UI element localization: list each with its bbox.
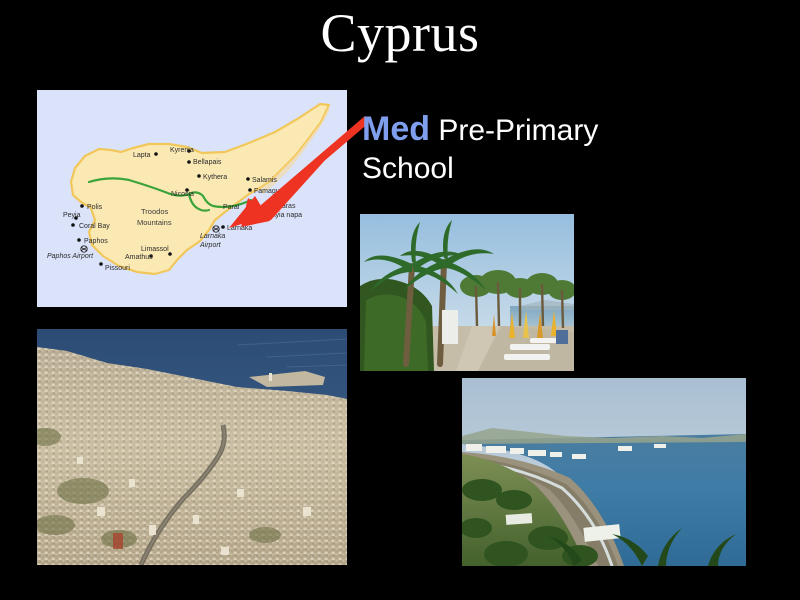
subtitle-heading: Med Pre-Primary School — [362, 110, 692, 188]
map-label-larnaka: Larnaka — [227, 225, 252, 232]
brand-name: Med — [362, 110, 430, 148]
map-label-larnaka-airport: Larnaka — [200, 233, 225, 240]
map-label-troodos: Troodos — [141, 207, 168, 216]
photo-promenade — [360, 214, 574, 371]
map-label-kyrenia: Kyrenia — [170, 147, 194, 154]
photo-city — [37, 329, 347, 565]
map-label-limassol: Limassol — [141, 246, 169, 253]
map-label-lapta: Lapta — [133, 152, 151, 159]
map-label-amathus: Amathus — [125, 254, 153, 261]
map-label-famagusta: Famagusta — [254, 188, 289, 195]
map-label-salamis: Salamis — [252, 177, 277, 184]
map-label-kythera: Kythera — [203, 174, 227, 181]
map-label-paral: Paral — [223, 204, 240, 211]
map-label-polis: Polis — [87, 204, 103, 211]
map-of-cyprus: Lapta Kyrenia Bellapais Kythera Nicosia … — [37, 90, 347, 307]
map-label-pissouri: Pissouri — [105, 265, 130, 272]
map-label-paphos: Paphos — [84, 238, 108, 245]
map-label-protaras: Protaras — [269, 203, 296, 210]
map-label-coral-bay: Coral Bay — [79, 223, 110, 230]
map-label-peyia: Peyia — [63, 212, 81, 219]
map-label-mountains: Mountains — [137, 218, 172, 227]
map-label-bellapais: Bellapais — [193, 159, 222, 166]
map-label-paphos-airport: Paphos Airport — [47, 253, 94, 260]
slide-canvas: Cyprus — [0, 0, 800, 600]
map-label-nicosia: Nicosia — [171, 191, 194, 198]
map-label-ayia-napa: Ayia napa — [271, 212, 302, 219]
photo-beach — [462, 378, 746, 566]
page-title: Cyprus — [0, 2, 800, 64]
map-label-larnaka-airport-2: Airport — [199, 242, 222, 249]
